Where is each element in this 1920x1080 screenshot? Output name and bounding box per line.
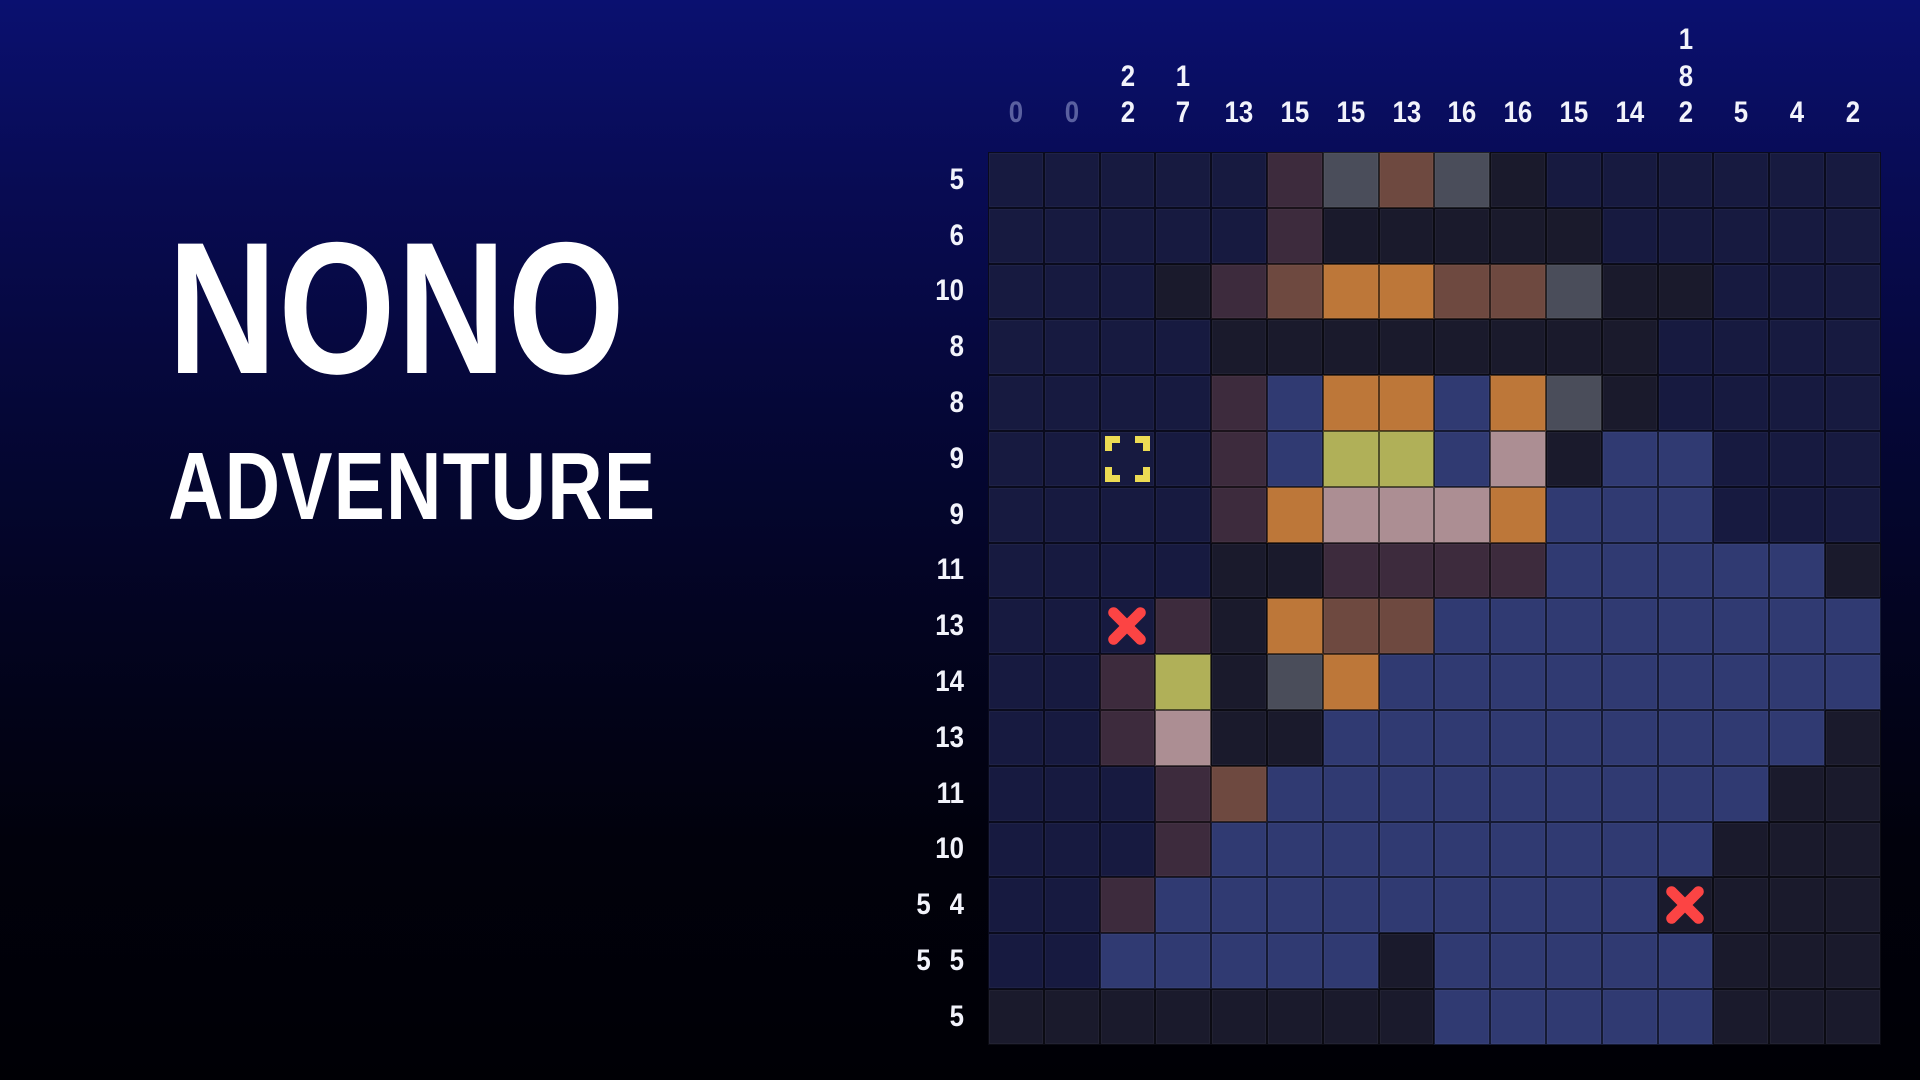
board-cell[interactable]	[988, 598, 1044, 654]
board-cell[interactable]	[988, 375, 1044, 431]
board-cell[interactable]	[1211, 487, 1267, 543]
board-cell[interactable]	[1044, 264, 1100, 320]
board-cell[interactable]	[1602, 766, 1658, 822]
board-cell[interactable]	[1602, 431, 1658, 487]
board-cell[interactable]	[1044, 822, 1100, 878]
board-cell[interactable]	[1379, 375, 1435, 431]
board-cell[interactable]	[1602, 319, 1658, 375]
board-cell[interactable]	[988, 877, 1044, 933]
board-cell[interactable]	[1211, 264, 1267, 320]
board-cell[interactable]	[1434, 375, 1490, 431]
board-cell[interactable]	[1769, 375, 1825, 431]
board-cell[interactable]	[1044, 319, 1100, 375]
column-clue-9: 16	[1494, 95, 1542, 152]
board-cell[interactable]	[1490, 208, 1546, 264]
board-cell[interactable]	[1323, 654, 1379, 710]
board-cell[interactable]	[1546, 654, 1602, 710]
board-cell[interactable]	[1434, 989, 1490, 1045]
board-cell[interactable]	[1769, 766, 1825, 822]
board-cell[interactable]	[1490, 598, 1546, 654]
board-cell[interactable]	[1323, 710, 1379, 766]
board-cell[interactable]	[1379, 766, 1435, 822]
board-cell[interactable]	[1546, 208, 1602, 264]
board-cell[interactable]	[1155, 654, 1211, 710]
board-cell[interactable]	[1434, 766, 1490, 822]
board-cell[interactable]	[1490, 654, 1546, 710]
board-cell[interactable]	[1211, 152, 1267, 208]
board-cell[interactable]	[1267, 543, 1323, 599]
board-cell[interactable]	[1100, 822, 1156, 878]
board-cell[interactable]	[1825, 375, 1881, 431]
board-cell[interactable]	[1434, 487, 1490, 543]
board-cell[interactable]	[1490, 264, 1546, 320]
board-cell[interactable]	[1379, 598, 1435, 654]
board-cell[interactable]	[1825, 319, 1881, 375]
board-cell[interactable]	[1602, 877, 1658, 933]
board-cell[interactable]	[1267, 319, 1323, 375]
board-cell[interactable]	[1379, 710, 1435, 766]
board-cell[interactable]	[1379, 654, 1435, 710]
board-cell[interactable]	[1044, 543, 1100, 599]
board-cell[interactable]	[1825, 598, 1881, 654]
clue-number: 8	[950, 386, 964, 420]
clue-number: 14	[1615, 95, 1644, 132]
board-cell[interactable]	[1713, 375, 1769, 431]
board-cell[interactable]	[1155, 766, 1211, 822]
board-cell[interactable]	[1100, 487, 1156, 543]
board-cell[interactable]	[1211, 989, 1267, 1045]
board-cell[interactable]	[1713, 877, 1769, 933]
board-cell[interactable]	[1825, 152, 1881, 208]
board-cell[interactable]	[1825, 208, 1881, 264]
board-cell[interactable]	[988, 319, 1044, 375]
board-cell[interactable]	[1267, 431, 1323, 487]
board-cell[interactable]	[1100, 710, 1156, 766]
board-cell[interactable]	[1713, 152, 1769, 208]
board-cell[interactable]	[1155, 208, 1211, 264]
board-cell[interactable]	[1155, 152, 1211, 208]
board-cell[interactable]	[1490, 319, 1546, 375]
board-cell[interactable]	[1658, 877, 1714, 933]
board-cell[interactable]	[1769, 152, 1825, 208]
row-clue-5: 9	[875, 431, 976, 487]
board-cell[interactable]	[988, 152, 1044, 208]
clue-number: 15	[1281, 95, 1310, 132]
board-cell[interactable]	[1379, 152, 1435, 208]
board-cell[interactable]	[1546, 487, 1602, 543]
board-cell[interactable]	[1379, 543, 1435, 599]
board-cell[interactable]	[1211, 710, 1267, 766]
board-cell[interactable]	[1602, 598, 1658, 654]
board-cell[interactable]	[1490, 933, 1546, 989]
board-cell[interactable]	[1323, 375, 1379, 431]
board-cell[interactable]	[1769, 487, 1825, 543]
board-cell[interactable]	[1713, 710, 1769, 766]
board-cell[interactable]	[1546, 822, 1602, 878]
board-cell[interactable]	[1658, 654, 1714, 710]
board-cell[interactable]	[1100, 933, 1156, 989]
board-cell[interactable]	[1323, 766, 1379, 822]
row-clues: 5610889911131413111054555	[858, 152, 976, 1045]
column-clue-15: 2	[1829, 95, 1877, 152]
board-cell[interactable]	[1044, 766, 1100, 822]
board-cell[interactable]	[1658, 822, 1714, 878]
row-clue-12: 10	[875, 822, 976, 878]
board-cell[interactable]	[1323, 543, 1379, 599]
board-cell[interactable]	[1769, 598, 1825, 654]
board-cell[interactable]	[1602, 208, 1658, 264]
clue-number: 11	[937, 553, 964, 587]
board-cell[interactable]	[1658, 989, 1714, 1045]
board-cell[interactable]	[988, 654, 1044, 710]
page-subtitle: ADVENTURE	[168, 439, 584, 535]
row-clue-3: 8	[875, 319, 976, 375]
board-grid[interactable]	[988, 152, 1881, 1045]
board-cell[interactable]	[1490, 710, 1546, 766]
board-cell[interactable]	[988, 989, 1044, 1045]
board-cell[interactable]	[1769, 264, 1825, 320]
column-clue-3: 17	[1159, 59, 1207, 152]
board-cell[interactable]	[1211, 822, 1267, 878]
board-cell[interactable]	[1434, 543, 1490, 599]
board-cell[interactable]	[1769, 431, 1825, 487]
board-cell[interactable]	[1100, 543, 1156, 599]
board-cell[interactable]	[1267, 877, 1323, 933]
board-cell[interactable]	[1379, 487, 1435, 543]
board-cell[interactable]	[1769, 654, 1825, 710]
board-cell[interactable]	[988, 710, 1044, 766]
board-cell[interactable]	[1825, 264, 1881, 320]
board-cell[interactable]	[1546, 766, 1602, 822]
board-cell[interactable]	[1434, 431, 1490, 487]
board-cell[interactable]	[1323, 319, 1379, 375]
board-cell[interactable]	[1100, 208, 1156, 264]
x-marker-icon	[1101, 599, 1155, 653]
board-cell[interactable]	[1211, 543, 1267, 599]
nonogram-board[interactable]	[988, 152, 1881, 1045]
clue-number: 0	[1065, 95, 1079, 132]
board-cell[interactable]	[1211, 319, 1267, 375]
board-cell[interactable]	[1490, 431, 1546, 487]
board-cell[interactable]	[1769, 933, 1825, 989]
board-cell[interactable]	[1379, 933, 1435, 989]
board-cell[interactable]	[1825, 933, 1881, 989]
board-cell[interactable]	[1658, 375, 1714, 431]
board-cell[interactable]	[1825, 822, 1881, 878]
board-cell[interactable]	[1546, 375, 1602, 431]
board-cell[interactable]	[1379, 877, 1435, 933]
board-cell[interactable]	[1434, 654, 1490, 710]
board-cell[interactable]	[1100, 264, 1156, 320]
board-cell[interactable]	[1769, 543, 1825, 599]
board-cell[interactable]	[1155, 431, 1211, 487]
board-cell[interactable]	[1825, 989, 1881, 1045]
board-cell[interactable]	[1323, 487, 1379, 543]
board-cell[interactable]	[1769, 208, 1825, 264]
board-cell[interactable]	[1769, 989, 1825, 1045]
board-cell[interactable]	[1211, 766, 1267, 822]
clue-number: 5	[950, 1000, 964, 1034]
board-cell[interactable]	[1658, 208, 1714, 264]
board-cell[interactable]	[1713, 543, 1769, 599]
clue-number: 8	[950, 330, 964, 364]
board-cell[interactable]	[988, 933, 1044, 989]
board-cell[interactable]	[1490, 487, 1546, 543]
board-cell[interactable]	[1267, 766, 1323, 822]
board-cell[interactable]	[1546, 431, 1602, 487]
board-cell[interactable]	[1490, 989, 1546, 1045]
column-clue-2: 22	[1103, 59, 1151, 152]
board-cell[interactable]	[1155, 933, 1211, 989]
board-cell[interactable]	[1155, 598, 1211, 654]
clue-number: 0	[1009, 95, 1023, 132]
board-cell[interactable]	[1044, 877, 1100, 933]
board-cell[interactable]	[1044, 710, 1100, 766]
cursor-selection-icon	[1101, 432, 1155, 486]
board-cell[interactable]	[1602, 710, 1658, 766]
board-cell[interactable]	[1044, 152, 1100, 208]
board-cell[interactable]	[1100, 989, 1156, 1045]
board-cell[interactable]	[1155, 822, 1211, 878]
board-cell[interactable]	[1434, 264, 1490, 320]
board-cell[interactable]	[1267, 598, 1323, 654]
board-cell[interactable]	[1658, 933, 1714, 989]
board-cell[interactable]	[1769, 710, 1825, 766]
board-cell[interactable]	[1713, 264, 1769, 320]
board-cell[interactable]	[1044, 598, 1100, 654]
board-cell[interactable]	[1825, 431, 1881, 487]
board-cell[interactable]	[1713, 933, 1769, 989]
board-cell[interactable]	[1100, 654, 1156, 710]
board-cell[interactable]	[1267, 152, 1323, 208]
board-cell[interactable]	[988, 766, 1044, 822]
board-cell[interactable]	[1546, 598, 1602, 654]
board-cell[interactable]	[1323, 933, 1379, 989]
board-cell[interactable]	[1658, 598, 1714, 654]
board-cell[interactable]	[1546, 933, 1602, 989]
board-cell[interactable]	[1211, 208, 1267, 264]
board-cell[interactable]	[1267, 654, 1323, 710]
board-cell[interactable]	[1100, 877, 1156, 933]
board-cell[interactable]	[1713, 208, 1769, 264]
x-marker-icon	[1659, 878, 1713, 932]
board-cell[interactable]	[1434, 877, 1490, 933]
board-cell[interactable]	[1155, 375, 1211, 431]
board-cell[interactable]	[1490, 543, 1546, 599]
board-cell[interactable]	[1713, 766, 1769, 822]
board-cell[interactable]	[1267, 208, 1323, 264]
board-cell[interactable]	[1211, 431, 1267, 487]
board-cell[interactable]	[988, 487, 1044, 543]
board-cell[interactable]	[1323, 877, 1379, 933]
board-cell[interactable]	[1713, 319, 1769, 375]
column-clue-8: 16	[1438, 95, 1486, 152]
board-cell[interactable]	[1044, 431, 1100, 487]
board-cell[interactable]	[1769, 877, 1825, 933]
board-cell[interactable]	[1825, 877, 1881, 933]
row-clue-6: 9	[875, 487, 976, 543]
board-cell[interactable]	[1658, 431, 1714, 487]
board-cell[interactable]	[1155, 989, 1211, 1045]
board-cell[interactable]	[1602, 989, 1658, 1045]
board-cell[interactable]	[1658, 319, 1714, 375]
board-cell[interactable]	[1658, 152, 1714, 208]
board-cell[interactable]	[1155, 487, 1211, 543]
column-clue-4: 13	[1215, 95, 1263, 152]
board-cell[interactable]	[1211, 598, 1267, 654]
board-cell[interactable]	[1379, 264, 1435, 320]
board-cell[interactable]	[1379, 431, 1435, 487]
board-cell[interactable]	[1211, 877, 1267, 933]
clue-number: 2	[1120, 59, 1134, 96]
board-cell[interactable]	[1825, 654, 1881, 710]
clue-number: 5	[950, 163, 964, 197]
board-cell[interactable]	[1490, 766, 1546, 822]
clue-number: 13	[935, 609, 964, 643]
board-cell[interactable]	[1155, 319, 1211, 375]
board-cell[interactable]	[1379, 208, 1435, 264]
board-cell[interactable]	[1546, 989, 1602, 1045]
board-cell[interactable]	[1267, 989, 1323, 1045]
board-cell[interactable]	[1713, 989, 1769, 1045]
board-cell[interactable]	[1825, 710, 1881, 766]
board-cell[interactable]	[1379, 822, 1435, 878]
board-cell[interactable]	[1044, 933, 1100, 989]
row-clue-11: 11	[875, 766, 976, 822]
board-cell[interactable]	[1434, 319, 1490, 375]
board-cell[interactable]	[1658, 710, 1714, 766]
board-cell[interactable]	[1044, 989, 1100, 1045]
clue-number: 14	[935, 665, 964, 699]
board-cell[interactable]	[1434, 933, 1490, 989]
board-cell[interactable]	[988, 822, 1044, 878]
board-cell[interactable]	[988, 431, 1044, 487]
clue-number: 13	[1225, 95, 1254, 132]
board-cell[interactable]	[1490, 375, 1546, 431]
board-cell[interactable]	[1100, 598, 1156, 654]
board-cell[interactable]	[1100, 766, 1156, 822]
clue-number: 8	[1678, 59, 1692, 96]
board-cell[interactable]	[1434, 710, 1490, 766]
board-cell[interactable]	[1434, 598, 1490, 654]
board-cell[interactable]	[1434, 822, 1490, 878]
board-cell[interactable]	[1155, 877, 1211, 933]
board-cell[interactable]	[1713, 431, 1769, 487]
board-cell[interactable]	[1546, 264, 1602, 320]
board-cell[interactable]	[1434, 152, 1490, 208]
board-cell[interactable]	[1658, 264, 1714, 320]
board-cell[interactable]	[1658, 543, 1714, 599]
board-cell[interactable]	[1602, 375, 1658, 431]
row-clue-8: 13	[875, 598, 976, 654]
board-cell[interactable]	[1602, 822, 1658, 878]
board-cell[interactable]	[1211, 375, 1267, 431]
board-cell[interactable]	[1100, 152, 1156, 208]
board-cell[interactable]	[1658, 487, 1714, 543]
board-cell[interactable]	[1546, 152, 1602, 208]
board-cell[interactable]	[1546, 543, 1602, 599]
board-cell[interactable]	[1323, 431, 1379, 487]
board-cell[interactable]	[1379, 319, 1435, 375]
board-cell[interactable]	[1602, 933, 1658, 989]
board-cell[interactable]	[1044, 487, 1100, 543]
board-cell[interactable]	[1602, 152, 1658, 208]
row-clue-0: 5	[875, 152, 976, 208]
clue-number: 13	[935, 721, 964, 755]
clue-number: 13	[1392, 95, 1421, 132]
board-cell[interactable]	[1267, 822, 1323, 878]
board-cell[interactable]	[1100, 431, 1156, 487]
board-cell[interactable]	[1825, 766, 1881, 822]
board-cell[interactable]	[1602, 487, 1658, 543]
board-cell[interactable]	[988, 543, 1044, 599]
board-cell[interactable]	[1323, 822, 1379, 878]
board-cell[interactable]	[1546, 710, 1602, 766]
board-cell[interactable]	[988, 208, 1044, 264]
board-cell[interactable]	[1044, 208, 1100, 264]
board-cell[interactable]	[1044, 654, 1100, 710]
board-cell[interactable]	[1323, 989, 1379, 1045]
board-cell[interactable]	[1267, 933, 1323, 989]
board-cell[interactable]	[1267, 264, 1323, 320]
board-cell[interactable]	[1100, 319, 1156, 375]
board-cell[interactable]	[1713, 822, 1769, 878]
clue-number: 2	[1678, 95, 1692, 132]
board-cell[interactable]	[1658, 766, 1714, 822]
board-cell[interactable]	[1379, 989, 1435, 1045]
clue-number: 9	[950, 498, 964, 532]
board-cell[interactable]	[1044, 375, 1100, 431]
row-clue-10: 13	[875, 710, 976, 766]
board-cell[interactable]	[1546, 319, 1602, 375]
clue-number: 16	[1448, 95, 1477, 132]
board-cell[interactable]	[988, 264, 1044, 320]
board-cell[interactable]	[1825, 543, 1881, 599]
board-cell[interactable]	[1546, 877, 1602, 933]
column-clue-14: 4	[1773, 95, 1821, 152]
board-cell[interactable]	[1490, 877, 1546, 933]
board-cell[interactable]	[1602, 543, 1658, 599]
board-cell[interactable]	[1267, 710, 1323, 766]
row-clue-15: 5	[875, 989, 976, 1045]
board-cell[interactable]	[1323, 598, 1379, 654]
board-cell[interactable]	[1769, 319, 1825, 375]
board-cell[interactable]	[1323, 152, 1379, 208]
board-cell[interactable]	[1155, 543, 1211, 599]
board-cell[interactable]	[1602, 264, 1658, 320]
board-cell[interactable]	[1490, 822, 1546, 878]
board-cell[interactable]	[1490, 152, 1546, 208]
board-cell[interactable]	[1267, 375, 1323, 431]
board-cell[interactable]	[1769, 822, 1825, 878]
page-title: NONO	[168, 222, 584, 395]
board-cell[interactable]	[1155, 264, 1211, 320]
board-cell[interactable]	[1323, 264, 1379, 320]
board-cell[interactable]	[1825, 487, 1881, 543]
board-cell[interactable]	[1211, 654, 1267, 710]
board-cell[interactable]	[1267, 487, 1323, 543]
board-cell[interactable]	[1713, 654, 1769, 710]
board-cell[interactable]	[1323, 208, 1379, 264]
board-cell[interactable]	[1434, 208, 1490, 264]
board-cell[interactable]	[1713, 487, 1769, 543]
board-cell[interactable]	[1602, 654, 1658, 710]
board-cell[interactable]	[1155, 710, 1211, 766]
column-clue-1: 0	[1048, 95, 1096, 152]
board-cell[interactable]	[1211, 933, 1267, 989]
board-cell[interactable]	[1713, 598, 1769, 654]
board-cell[interactable]	[1100, 375, 1156, 431]
